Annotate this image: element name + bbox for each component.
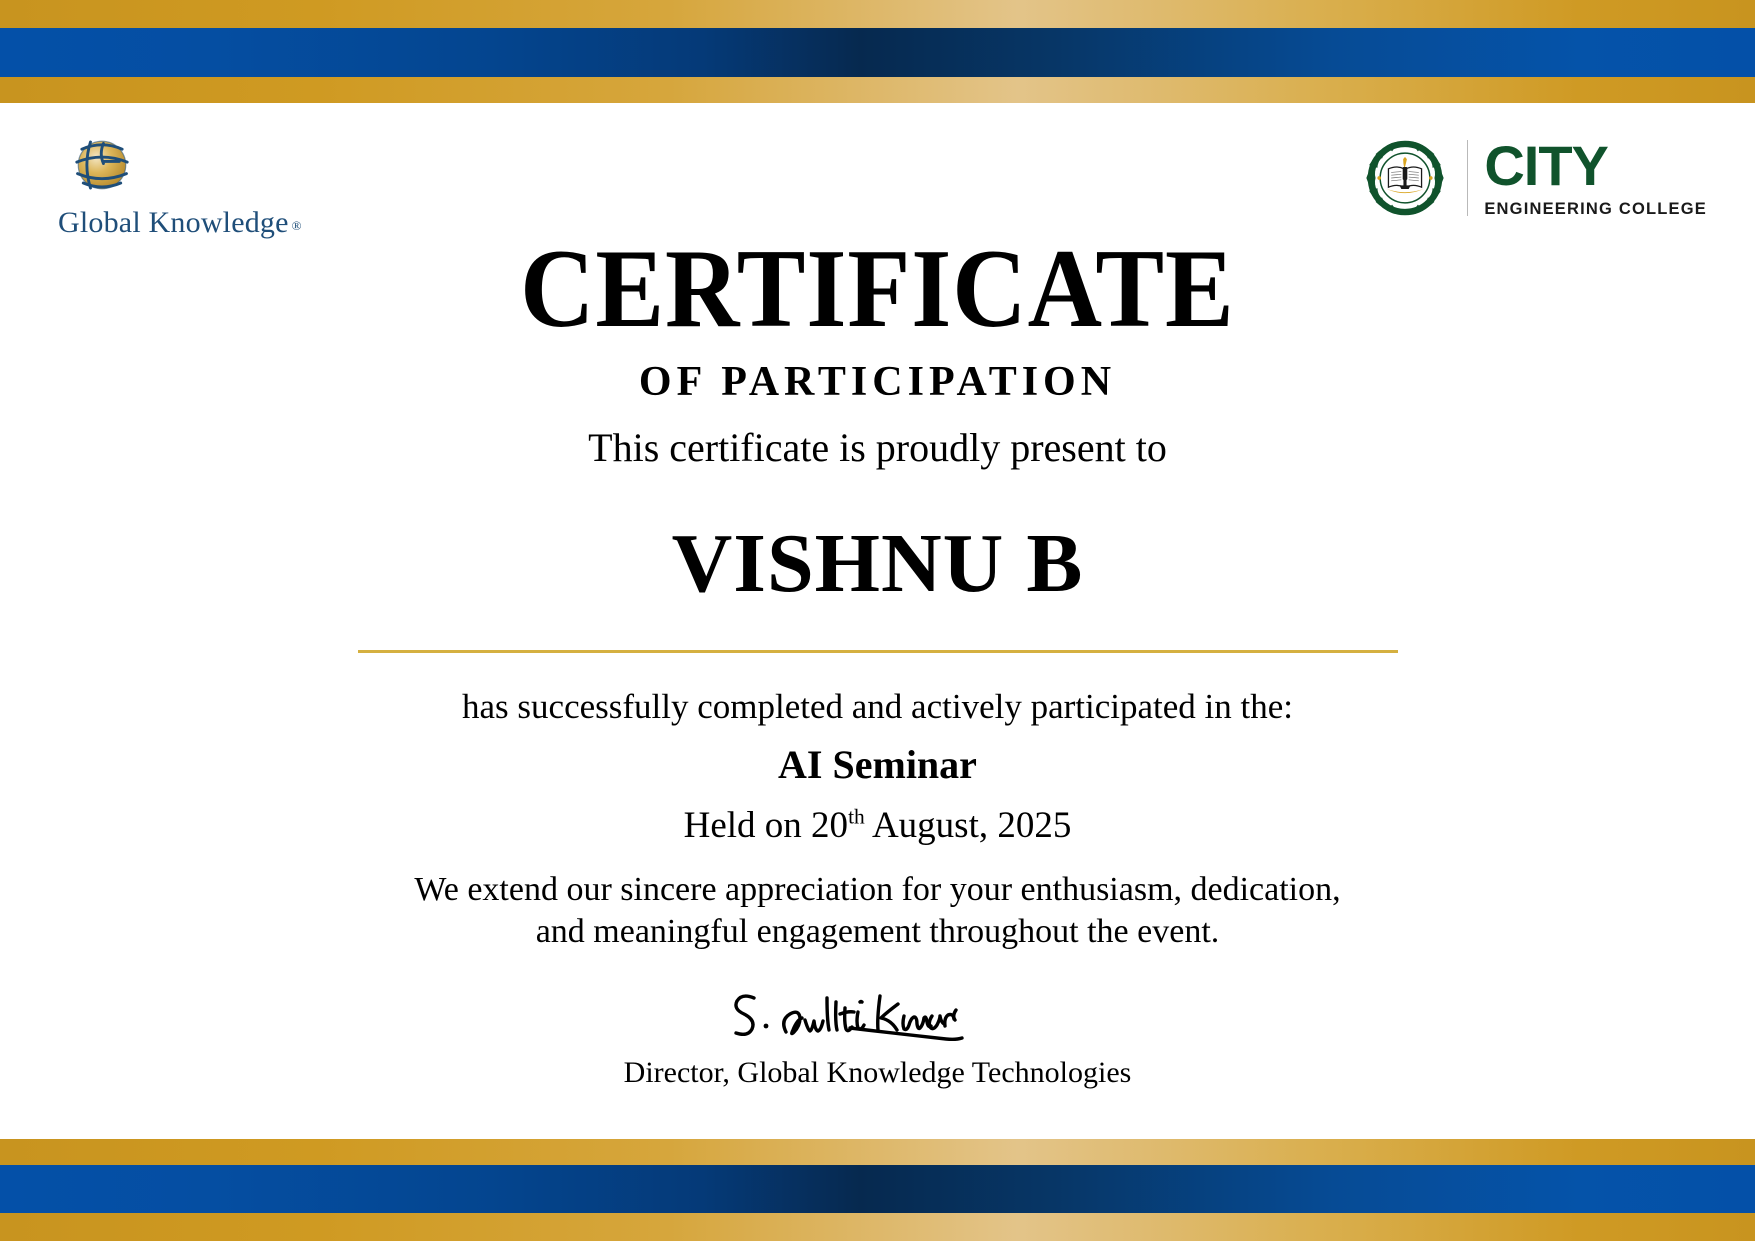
certificate-body: CERTIFICATE OF PARTICIPATION This certif…	[0, 104, 1755, 1138]
top-border	[0, 0, 1755, 103]
date-ordinal-suffix: th	[848, 804, 865, 828]
certificate-subtitle: OF PARTICIPATION	[639, 358, 1116, 406]
present-to-line: This certificate is proudly present to	[588, 424, 1167, 471]
handwritten-signature-icon	[712, 986, 1042, 1050]
held-on-prefix: Held on 20	[684, 805, 848, 846]
recipient-name: VISHNU B	[672, 515, 1084, 612]
bottom-blue-stripe	[0, 1165, 1755, 1213]
held-on-suffix: August, 2025	[865, 805, 1072, 846]
appreciation-paragraph: We extend our sincere appreciation for y…	[328, 869, 1428, 954]
signature-block: Director, Global Knowledge Technologies	[624, 986, 1132, 1090]
event-name: AI Seminar	[778, 741, 977, 788]
signatory-title: Director, Global Knowledge Technologies	[624, 1056, 1132, 1090]
appreciation-line-2: and meaningful engagement throughout the…	[328, 911, 1428, 954]
completion-line: has successfully completed and actively …	[462, 687, 1293, 727]
bottom-gold-stripe-inner	[0, 1139, 1755, 1165]
top-blue-stripe	[0, 28, 1755, 77]
appreciation-line-1: We extend our sincere appreciation for y…	[328, 869, 1428, 912]
top-gold-stripe-inner	[0, 77, 1755, 103]
certificate-title: CERTIFICATE	[520, 236, 1235, 344]
top-gold-stripe-outer	[0, 0, 1755, 28]
gold-divider-rule	[358, 650, 1398, 653]
bottom-gold-stripe-outer	[0, 1213, 1755, 1241]
bottom-border	[0, 1139, 1755, 1241]
held-on-date: Held on 20th August, 2025	[684, 804, 1072, 847]
